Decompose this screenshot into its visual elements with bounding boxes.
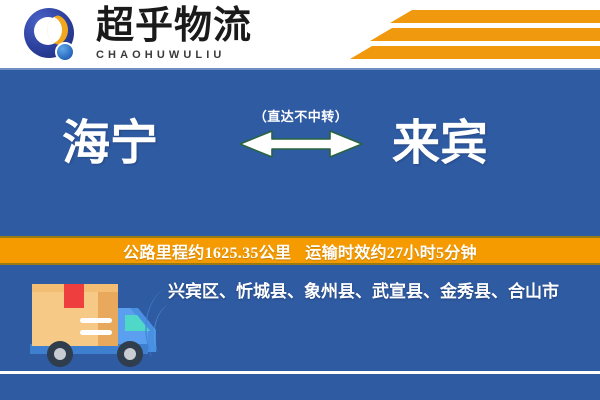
stripe-2 [370,28,600,41]
distance-text: 公路里程约1625.35公里 [123,239,291,263]
duration-text: 运输时效约27小时5分钟 [305,239,477,263]
route-note-direct: （直达不中转） [238,108,364,125]
stripe-1 [390,10,600,23]
brand-name-en: CHAOHUWULIU [96,48,266,62]
logistics-route-banner: 超乎物流 CHAOHUWULIU 海宁 （直达不中转） 【往返运输】 来宾 公路… [0,0,600,400]
circle-crescent-logo-icon [24,8,82,64]
destination-city: 来宾 [392,116,488,172]
coverage-districts-text: 兴宾区、忻城县、象州县、武宣县、金秀县、合山市 [168,281,588,303]
brand-name-cn: 超乎物流 [96,6,266,46]
route-section: 海宁 （直达不中转） 【往返运输】 来宾 [0,70,600,236]
stripe-3 [350,46,600,59]
origin-city: 海宁 [62,116,158,172]
logo-small-dot-shape [55,42,75,62]
double-headed-arrow-icon [238,127,364,161]
header-bar: 超乎物流 CHAOHUWULIU [0,0,600,70]
bottom-divider [0,371,600,374]
route-arrow-block: （直达不中转） 【往返运输】 [238,108,364,194]
orange-speed-stripes-icon [330,6,600,64]
route-info-bar: 公路里程约1625.35公里 运输时效约27小时5分钟 [0,236,600,265]
motion-swoosh-icon [138,286,168,360]
brand-wordmark: 超乎物流 CHAOHUWULIU [96,6,266,62]
